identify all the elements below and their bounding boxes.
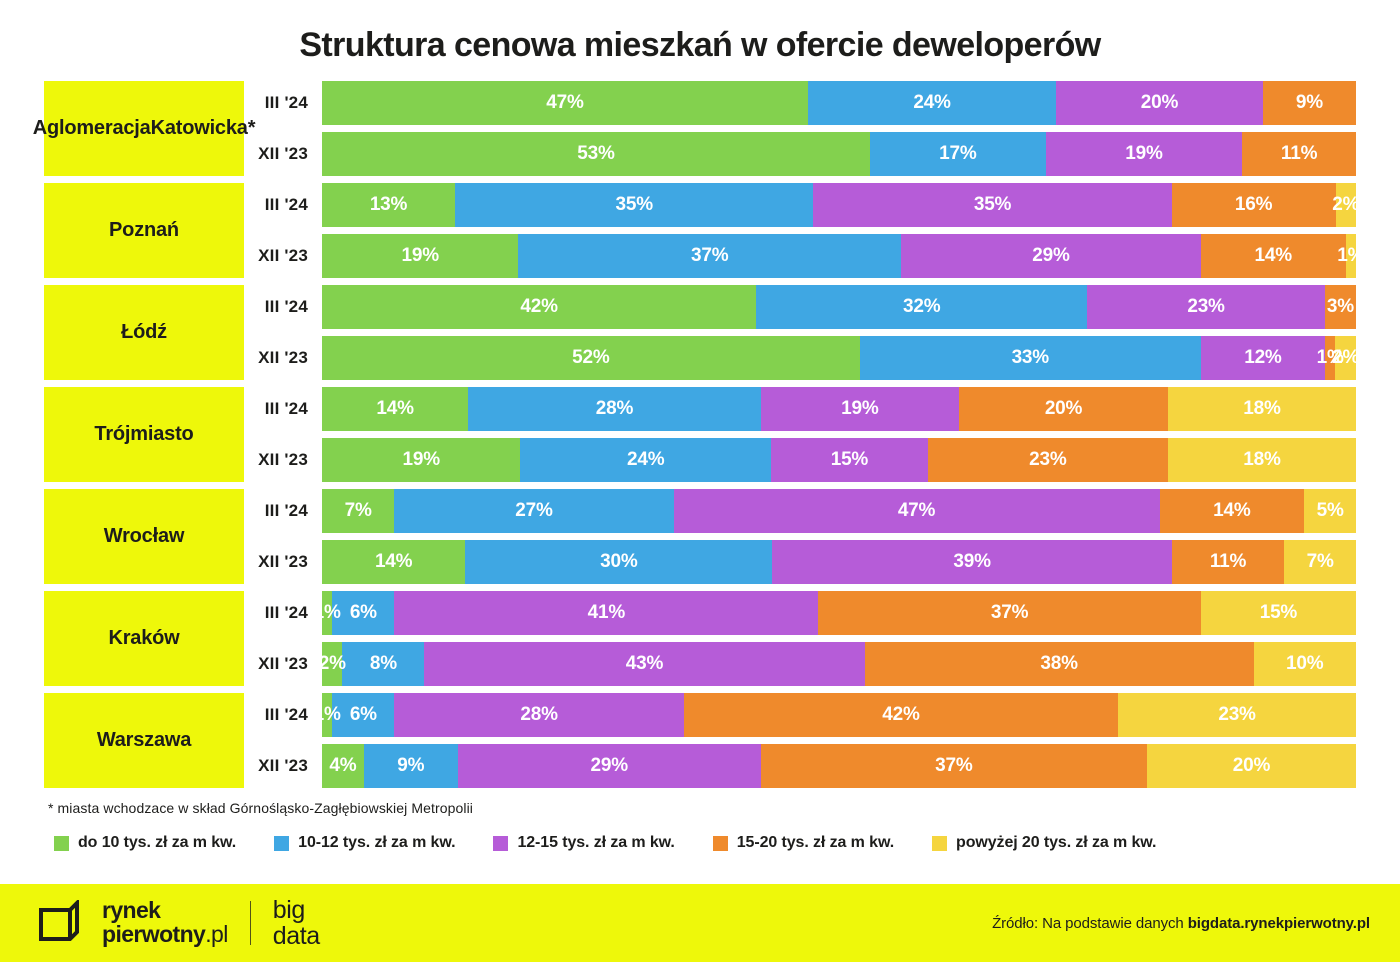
bar-row: XII '2314%30%39%11%7% (244, 540, 1356, 584)
segment-value: 24% (913, 92, 950, 114)
bar-segment[interactable]: 23% (928, 438, 1168, 482)
bar-segment[interactable]: 35% (813, 183, 1171, 227)
bar-segment[interactable]: 20% (1147, 744, 1356, 788)
bar-segment[interactable]: 29% (458, 744, 761, 788)
segment-value: 11% (1210, 551, 1246, 573)
legend-swatch-icon (932, 836, 947, 851)
city-name-line: Kraków (108, 625, 179, 651)
bar-segment[interactable]: 5% (1304, 489, 1356, 533)
bar-segment[interactable]: 9% (1263, 81, 1356, 125)
logo-suffix: .pl (205, 921, 228, 947)
segment-value: 52% (572, 347, 609, 369)
segment-value: 28% (596, 398, 633, 420)
segment-value: 38% (1040, 653, 1077, 675)
period-label: XII '23 (244, 348, 322, 368)
bar-segment[interactable]: 7% (1284, 540, 1356, 584)
segment-value: 19% (402, 245, 439, 267)
bigdata-line-1: big (273, 896, 305, 924)
bar-segment[interactable]: 47% (322, 81, 808, 125)
bar-segment[interactable]: 37% (761, 744, 1147, 788)
bar-segment[interactable]: 17% (870, 132, 1046, 176)
stacked-bar: 4%9%29%37%20% (322, 744, 1356, 788)
city-group: TrójmiastoIII '2414%28%19%20%18%XII '231… (44, 387, 1356, 482)
page-title: Struktura cenowa mieszkań w ofercie dewe… (0, 0, 1400, 81)
city-group: ŁódźIII '2442%32%23%3%XII '2352%33%12%1%… (44, 285, 1356, 380)
bar-segment[interactable]: 19% (322, 234, 518, 278)
bar-segment[interactable]: 38% (865, 642, 1254, 686)
bar-segment[interactable]: 2% (322, 642, 342, 686)
legend-swatch-icon (713, 836, 728, 851)
bar-segment[interactable]: 1% (1346, 234, 1356, 278)
segment-value: 53% (577, 143, 614, 165)
stacked-bar: 1%6%41%37%15% (322, 591, 1356, 635)
bar-segment[interactable]: 23% (1087, 285, 1325, 329)
segment-value: 15% (831, 449, 868, 471)
segment-value: 32% (903, 296, 940, 318)
segment-value: 6% (350, 704, 377, 726)
segment-value: 47% (546, 92, 583, 114)
bar-segment[interactable]: 10% (1254, 642, 1356, 686)
stacked-bar: 1%6%28%42%23% (322, 693, 1356, 737)
bar-segment[interactable]: 29% (901, 234, 1201, 278)
bar-segment[interactable]: 28% (468, 387, 760, 431)
city-label-7: Warszawa (44, 693, 244, 788)
period-label: XII '23 (244, 552, 322, 572)
segment-value: 10% (1286, 653, 1323, 675)
bar-segment[interactable]: 24% (808, 81, 1056, 125)
segment-value: 14% (1255, 245, 1292, 267)
legend-label: 10-12 tys. zł za m kw. (298, 834, 455, 852)
bar-segment[interactable]: 14% (1201, 234, 1346, 278)
stacked-bar: 42%32%23%3% (322, 285, 1356, 329)
bar-segment[interactable]: 30% (465, 540, 772, 584)
segment-value: 35% (616, 194, 653, 216)
segment-value: 20% (1233, 755, 1270, 777)
city-name-line: Wrocław (104, 523, 184, 549)
source-note: Źródło: Na podstawie danych bigdata.ryne… (992, 915, 1370, 932)
city-rows: III '2447%24%20%9%XII '2353%17%19%11% (244, 81, 1356, 176)
segment-value: 23% (1029, 449, 1066, 471)
period-label: XII '23 (244, 756, 322, 776)
bar-segment[interactable]: 2% (1335, 336, 1356, 380)
city-group: WrocławIII '247%27%47%14%5%XII '2314%30%… (44, 489, 1356, 584)
stacked-bar: 19%24%15%23%18% (322, 438, 1356, 482)
bar-segment[interactable]: 42% (684, 693, 1118, 737)
city-rows: III '241%6%28%42%23%XII '234%9%29%37%20% (244, 693, 1356, 788)
city-group: KrakówIII '241%6%41%37%15%XII '232%8%43%… (44, 591, 1356, 686)
city-rows: III '2413%35%35%16%2%XII '2319%37%29%14%… (244, 183, 1356, 278)
bar-segment[interactable]: 37% (518, 234, 901, 278)
bar-segment[interactable]: 42% (322, 285, 756, 329)
segment-value: 42% (520, 296, 557, 318)
bar-segment[interactable]: 24% (520, 438, 771, 482)
bar-segment[interactable]: 12% (1201, 336, 1325, 380)
segment-value: 23% (1218, 704, 1255, 726)
bar-segment[interactable]: 19% (761, 387, 959, 431)
bar-row: III '241%6%28%42%23% (244, 693, 1356, 737)
city-label-1: AglomeracjaKatowicka* (44, 81, 244, 176)
segment-value: 37% (935, 755, 972, 777)
bar-segment[interactable]: 19% (322, 438, 520, 482)
city-label-4: Trójmiasto (44, 387, 244, 482)
footnote: * miasta wchodzace w skład Górnośląsko-Z… (48, 800, 1400, 816)
stacked-bar: 52%33%12%1%2% (322, 336, 1356, 380)
legend-item-1[interactable]: do 10 tys. zł za m kw. (54, 834, 236, 852)
city-label-2: Poznań (44, 183, 244, 278)
segment-value: 28% (520, 704, 557, 726)
bar-segment[interactable]: 13% (322, 183, 455, 227)
logo-line-2: pierwotny (102, 921, 205, 947)
source-link: bigdata.rynekpierwotny.pl (1188, 915, 1370, 932)
segment-value: 16% (1235, 194, 1272, 216)
segment-value: 13% (370, 194, 407, 216)
city-name-line: Poznań (109, 217, 179, 243)
bar-row: XII '232%8%43%38%10% (244, 642, 1356, 686)
bar-segment[interactable]: 32% (756, 285, 1087, 329)
segment-value: 41% (588, 602, 625, 624)
brand-block: rynek pierwotny.pl big data (38, 897, 320, 949)
bar-row: III '241%6%41%37%15% (244, 591, 1356, 635)
segment-value: 35% (974, 194, 1011, 216)
city-rows: III '2442%32%23%3%XII '2352%33%12%1%2% (244, 285, 1356, 380)
legend-item-3[interactable]: 12-15 tys. zł za m kw. (493, 834, 674, 852)
segment-value: 3% (1327, 296, 1354, 318)
city-group: AglomeracjaKatowicka*III '2447%24%20%9%X… (44, 81, 1356, 176)
period-label: III '24 (244, 195, 322, 215)
bar-segment[interactable]: 11% (1172, 540, 1285, 584)
period-label: III '24 (244, 297, 322, 317)
bar-row: III '247%27%47%14%5% (244, 489, 1356, 533)
segment-value: 14% (375, 551, 412, 573)
legend-label: do 10 tys. zł za m kw. (78, 834, 236, 852)
stacked-bar: 47%24%20%9% (322, 81, 1356, 125)
period-label: III '24 (244, 603, 322, 623)
legend-item-5[interactable]: powyżej 20 tys. zł za m kw. (932, 834, 1156, 852)
segment-value: 47% (898, 500, 935, 522)
bar-segment[interactable]: 20% (1056, 81, 1263, 125)
bigdata-wordmark: big data (273, 897, 320, 949)
bar-segment[interactable]: 41% (394, 591, 818, 635)
legend-label: powyżej 20 tys. zł za m kw. (956, 834, 1156, 852)
bar-segment[interactable]: 15% (771, 438, 928, 482)
bar-row: XII '2352%33%12%1%2% (244, 336, 1356, 380)
period-label: XII '23 (244, 246, 322, 266)
period-label: III '24 (244, 93, 322, 113)
legend-swatch-icon (493, 836, 508, 851)
rynek-pierwotny-logo-icon (38, 900, 80, 947)
bigdata-line-2: data (273, 922, 320, 950)
bar-segment[interactable]: 14% (1160, 489, 1305, 533)
bar-segment[interactable]: 16% (1172, 183, 1336, 227)
segment-value: 24% (627, 449, 664, 471)
bar-segment[interactable]: 23% (1118, 693, 1356, 737)
segment-value: 7% (345, 500, 372, 522)
segment-value: 42% (882, 704, 919, 726)
bar-segment[interactable]: 6% (332, 591, 394, 635)
legend-item-2[interactable]: 10-12 tys. zł za m kw. (274, 834, 455, 852)
bar-segment[interactable]: 35% (455, 183, 813, 227)
bar-segment[interactable]: 33% (860, 336, 1201, 380)
segment-value: 11% (1281, 143, 1317, 165)
segment-value: 2% (1332, 347, 1359, 369)
bar-segment[interactable]: 15% (1201, 591, 1356, 635)
bar-segment[interactable]: 14% (322, 387, 468, 431)
bar-segment[interactable]: 37% (818, 591, 1201, 635)
stacked-bar: 53%17%19%11% (322, 132, 1356, 176)
bar-segment[interactable]: 6% (332, 693, 394, 737)
footer-bar: rynek pierwotny.pl big data Źródło: Na p… (0, 884, 1400, 962)
bar-segment[interactable]: 39% (772, 540, 1171, 584)
city-name-line: Katowicka* (151, 115, 256, 141)
segment-value: 8% (370, 653, 397, 675)
city-label-6: Kraków (44, 591, 244, 686)
period-label: XII '23 (244, 654, 322, 674)
brand-divider (250, 901, 251, 945)
bar-segment[interactable]: 3% (1325, 285, 1356, 329)
legend-item-4[interactable]: 15-20 tys. zł za m kw. (713, 834, 894, 852)
bar-row: XII '2353%17%19%11% (244, 132, 1356, 176)
stacked-bar-chart: AglomeracjaKatowicka*III '2447%24%20%9%X… (44, 81, 1356, 788)
bar-row: XII '234%9%29%37%20% (244, 744, 1356, 788)
legend-swatch-icon (54, 836, 69, 851)
segment-value: 43% (626, 653, 663, 675)
city-rows: III '241%6%41%37%15%XII '232%8%43%38%10% (244, 591, 1356, 686)
period-label: III '24 (244, 705, 322, 725)
segment-value: 39% (953, 551, 990, 573)
bar-segment[interactable]: 2% (1336, 183, 1356, 227)
bar-row: III '2442%32%23%3% (244, 285, 1356, 329)
infographic-page: Struktura cenowa mieszkań w ofercie dewe… (0, 0, 1400, 962)
stacked-bar: 7%27%47%14%5% (322, 489, 1356, 533)
stacked-bar: 14%28%19%20%18% (322, 387, 1356, 431)
stacked-bar: 13%35%35%16%2% (322, 183, 1356, 227)
bar-row: III '2414%28%19%20%18% (244, 387, 1356, 431)
segment-value: 2% (1332, 194, 1359, 216)
segment-value: 29% (1032, 245, 1069, 267)
legend-swatch-icon (274, 836, 289, 851)
segment-value: 4% (329, 755, 356, 777)
segment-value: 7% (1307, 551, 1334, 573)
stacked-bar: 2%8%43%38%10% (322, 642, 1356, 686)
segment-value: 9% (397, 755, 424, 777)
bar-segment[interactable]: 11% (1242, 132, 1356, 176)
bar-row: XII '2319%24%15%23%18% (244, 438, 1356, 482)
segment-value: 19% (1125, 143, 1162, 165)
city-name-line: Łódź (121, 319, 167, 345)
city-rows: III '2414%28%19%20%18%XII '2319%24%15%23… (244, 387, 1356, 482)
segment-value: 27% (515, 500, 552, 522)
period-label: XII '23 (244, 450, 322, 470)
period-label: XII '23 (244, 144, 322, 164)
segment-value: 19% (841, 398, 878, 420)
city-name-line: Trójmiasto (94, 421, 193, 447)
bar-segment[interactable]: 18% (1168, 387, 1356, 431)
bar-segment[interactable]: 14% (322, 540, 465, 584)
stacked-bar: 14%30%39%11%7% (322, 540, 1356, 584)
bar-row: XII '2319%37%29%14%1% (244, 234, 1356, 278)
bar-row: III '2447%24%20%9% (244, 81, 1356, 125)
segment-value: 14% (376, 398, 413, 420)
city-label-5: Wrocław (44, 489, 244, 584)
bar-segment[interactable]: 1% (322, 693, 332, 737)
bar-segment[interactable]: 53% (322, 132, 870, 176)
bar-row: III '2413%35%35%16%2% (244, 183, 1356, 227)
city-group: PoznańIII '2413%35%35%16%2%XII '2319%37%… (44, 183, 1356, 278)
chart-legend: do 10 tys. zł za m kw.10-12 tys. zł za m… (54, 834, 1400, 852)
logo-line-1: rynek (102, 897, 160, 923)
bar-segment[interactable]: 47% (674, 489, 1160, 533)
bar-segment[interactable]: 52% (322, 336, 860, 380)
segment-value: 37% (691, 245, 728, 267)
segment-value: 9% (1296, 92, 1323, 114)
stacked-bar: 19%37%29%14%1% (322, 234, 1356, 278)
period-label: III '24 (244, 501, 322, 521)
segment-value: 5% (1317, 500, 1344, 522)
legend-label: 12-15 tys. zł za m kw. (517, 834, 674, 852)
city-label-3: Łódź (44, 285, 244, 380)
segment-value: 14% (1213, 500, 1250, 522)
period-label: III '24 (244, 399, 322, 419)
segment-value: 29% (590, 755, 627, 777)
segment-value: 37% (991, 602, 1028, 624)
segment-value: 23% (1187, 296, 1224, 318)
bar-segment[interactable]: 28% (394, 693, 684, 737)
bar-segment[interactable]: 4% (322, 744, 364, 788)
segment-value: 20% (1045, 398, 1082, 420)
bar-segment[interactable]: 19% (1046, 132, 1242, 176)
bar-segment[interactable]: 43% (424, 642, 864, 686)
source-prefix: Źródło: Na podstawie danych (992, 915, 1188, 932)
segment-value: 19% (403, 449, 440, 471)
bar-segment[interactable]: 1% (1325, 336, 1335, 380)
city-name-line: Aglomeracja (33, 115, 151, 141)
segment-value: 33% (1012, 347, 1049, 369)
bar-segment[interactable]: 20% (959, 387, 1168, 431)
segment-value: 18% (1243, 398, 1280, 420)
bar-segment[interactable]: 18% (1168, 438, 1356, 482)
segment-value: 12% (1244, 347, 1281, 369)
bar-segment[interactable]: 27% (394, 489, 673, 533)
segment-value: 18% (1243, 449, 1280, 471)
segment-value: 15% (1260, 602, 1297, 624)
segment-value: 20% (1141, 92, 1178, 114)
bar-segment[interactable]: 7% (322, 489, 394, 533)
city-group: WarszawaIII '241%6%28%42%23%XII '234%9%2… (44, 693, 1356, 788)
legend-label: 15-20 tys. zł za m kw. (737, 834, 894, 852)
segment-value: 30% (600, 551, 637, 573)
segment-value: 17% (939, 143, 976, 165)
bar-segment[interactable]: 1% (322, 591, 332, 635)
city-rows: III '247%27%47%14%5%XII '2314%30%39%11%7… (244, 489, 1356, 584)
bar-segment[interactable]: 8% (342, 642, 424, 686)
logo-wordmark: rynek pierwotny.pl (102, 899, 228, 947)
city-name-line: Warszawa (97, 727, 191, 753)
segment-value: 6% (350, 602, 377, 624)
bar-segment[interactable]: 9% (364, 744, 458, 788)
